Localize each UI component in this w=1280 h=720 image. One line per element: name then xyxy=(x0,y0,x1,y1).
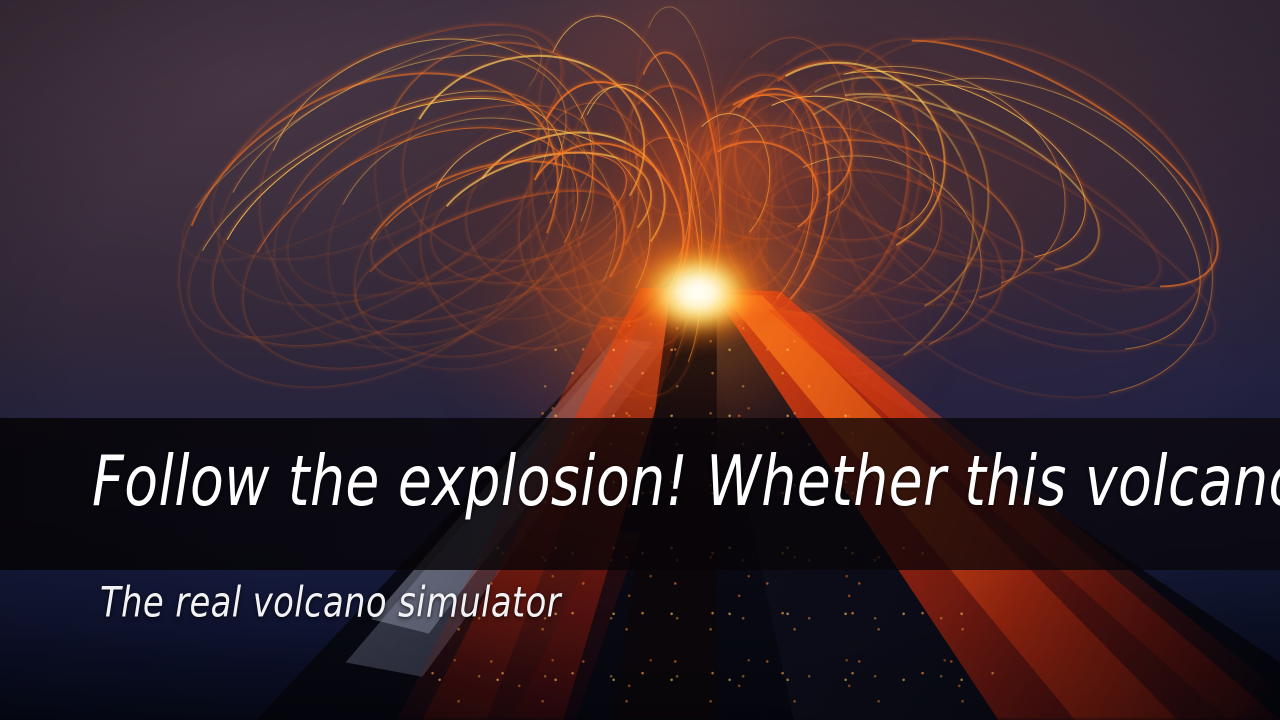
lava-fountain-core xyxy=(548,177,848,407)
slide-subtitle: The real volcano simulator xyxy=(100,583,561,625)
slide-title: Follow the explosion! Whether this volca… xyxy=(92,447,1280,517)
title-slide: Follow the explosion! Whether this volca… xyxy=(0,0,1280,720)
